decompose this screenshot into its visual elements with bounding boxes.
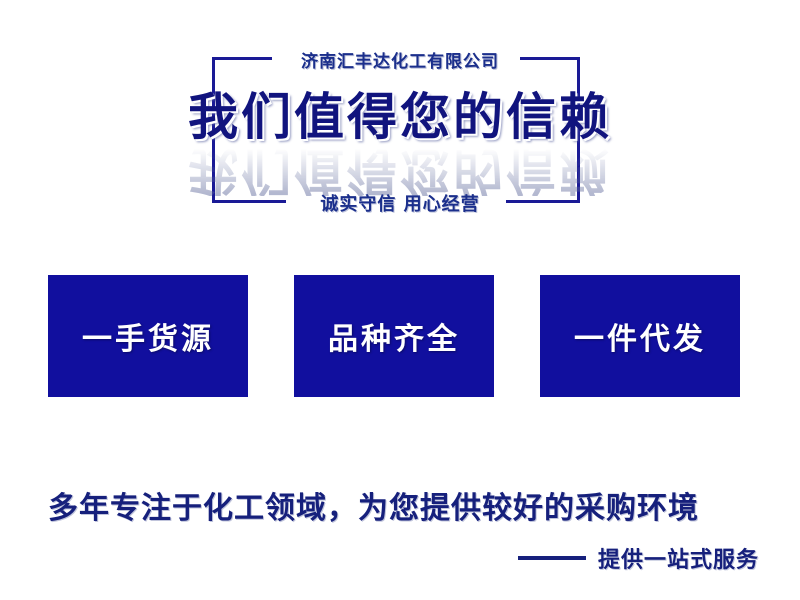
feature-box-label: 品种齐全 [328,314,460,358]
feature-box-variety: 品种齐全 [294,275,494,397]
feature-box-label: 一件代发 [574,314,706,358]
hero-motto: 诚实守信 用心经营 [0,190,800,216]
hero-slogan-container: 我们值得您的信赖 [0,92,800,142]
feature-box-group: 一手货源 品种齐全 一件代发 [48,275,740,397]
feature-box-source: 一手货源 [48,275,248,397]
feature-box-label: 一手货源 [82,314,214,358]
promo-banner: 济南汇丰达化工有限公司 我们值得您的信赖 我们值得您的信赖 诚实守信 用心经营 … [0,0,800,600]
tagline: 多年专注于化工领域，为您提供较好的采购环境 [48,483,699,527]
feature-box-dropship: 一件代发 [540,275,740,397]
hero-slogan: 我们值得您的信赖 [188,92,612,142]
subtagline-rule-icon [518,556,586,560]
subtagline-row: 提供一站式服务 [518,542,759,574]
subtagline: 提供一站式服务 [598,542,759,574]
company-name: 济南汇丰达化工有限公司 [0,47,800,72]
